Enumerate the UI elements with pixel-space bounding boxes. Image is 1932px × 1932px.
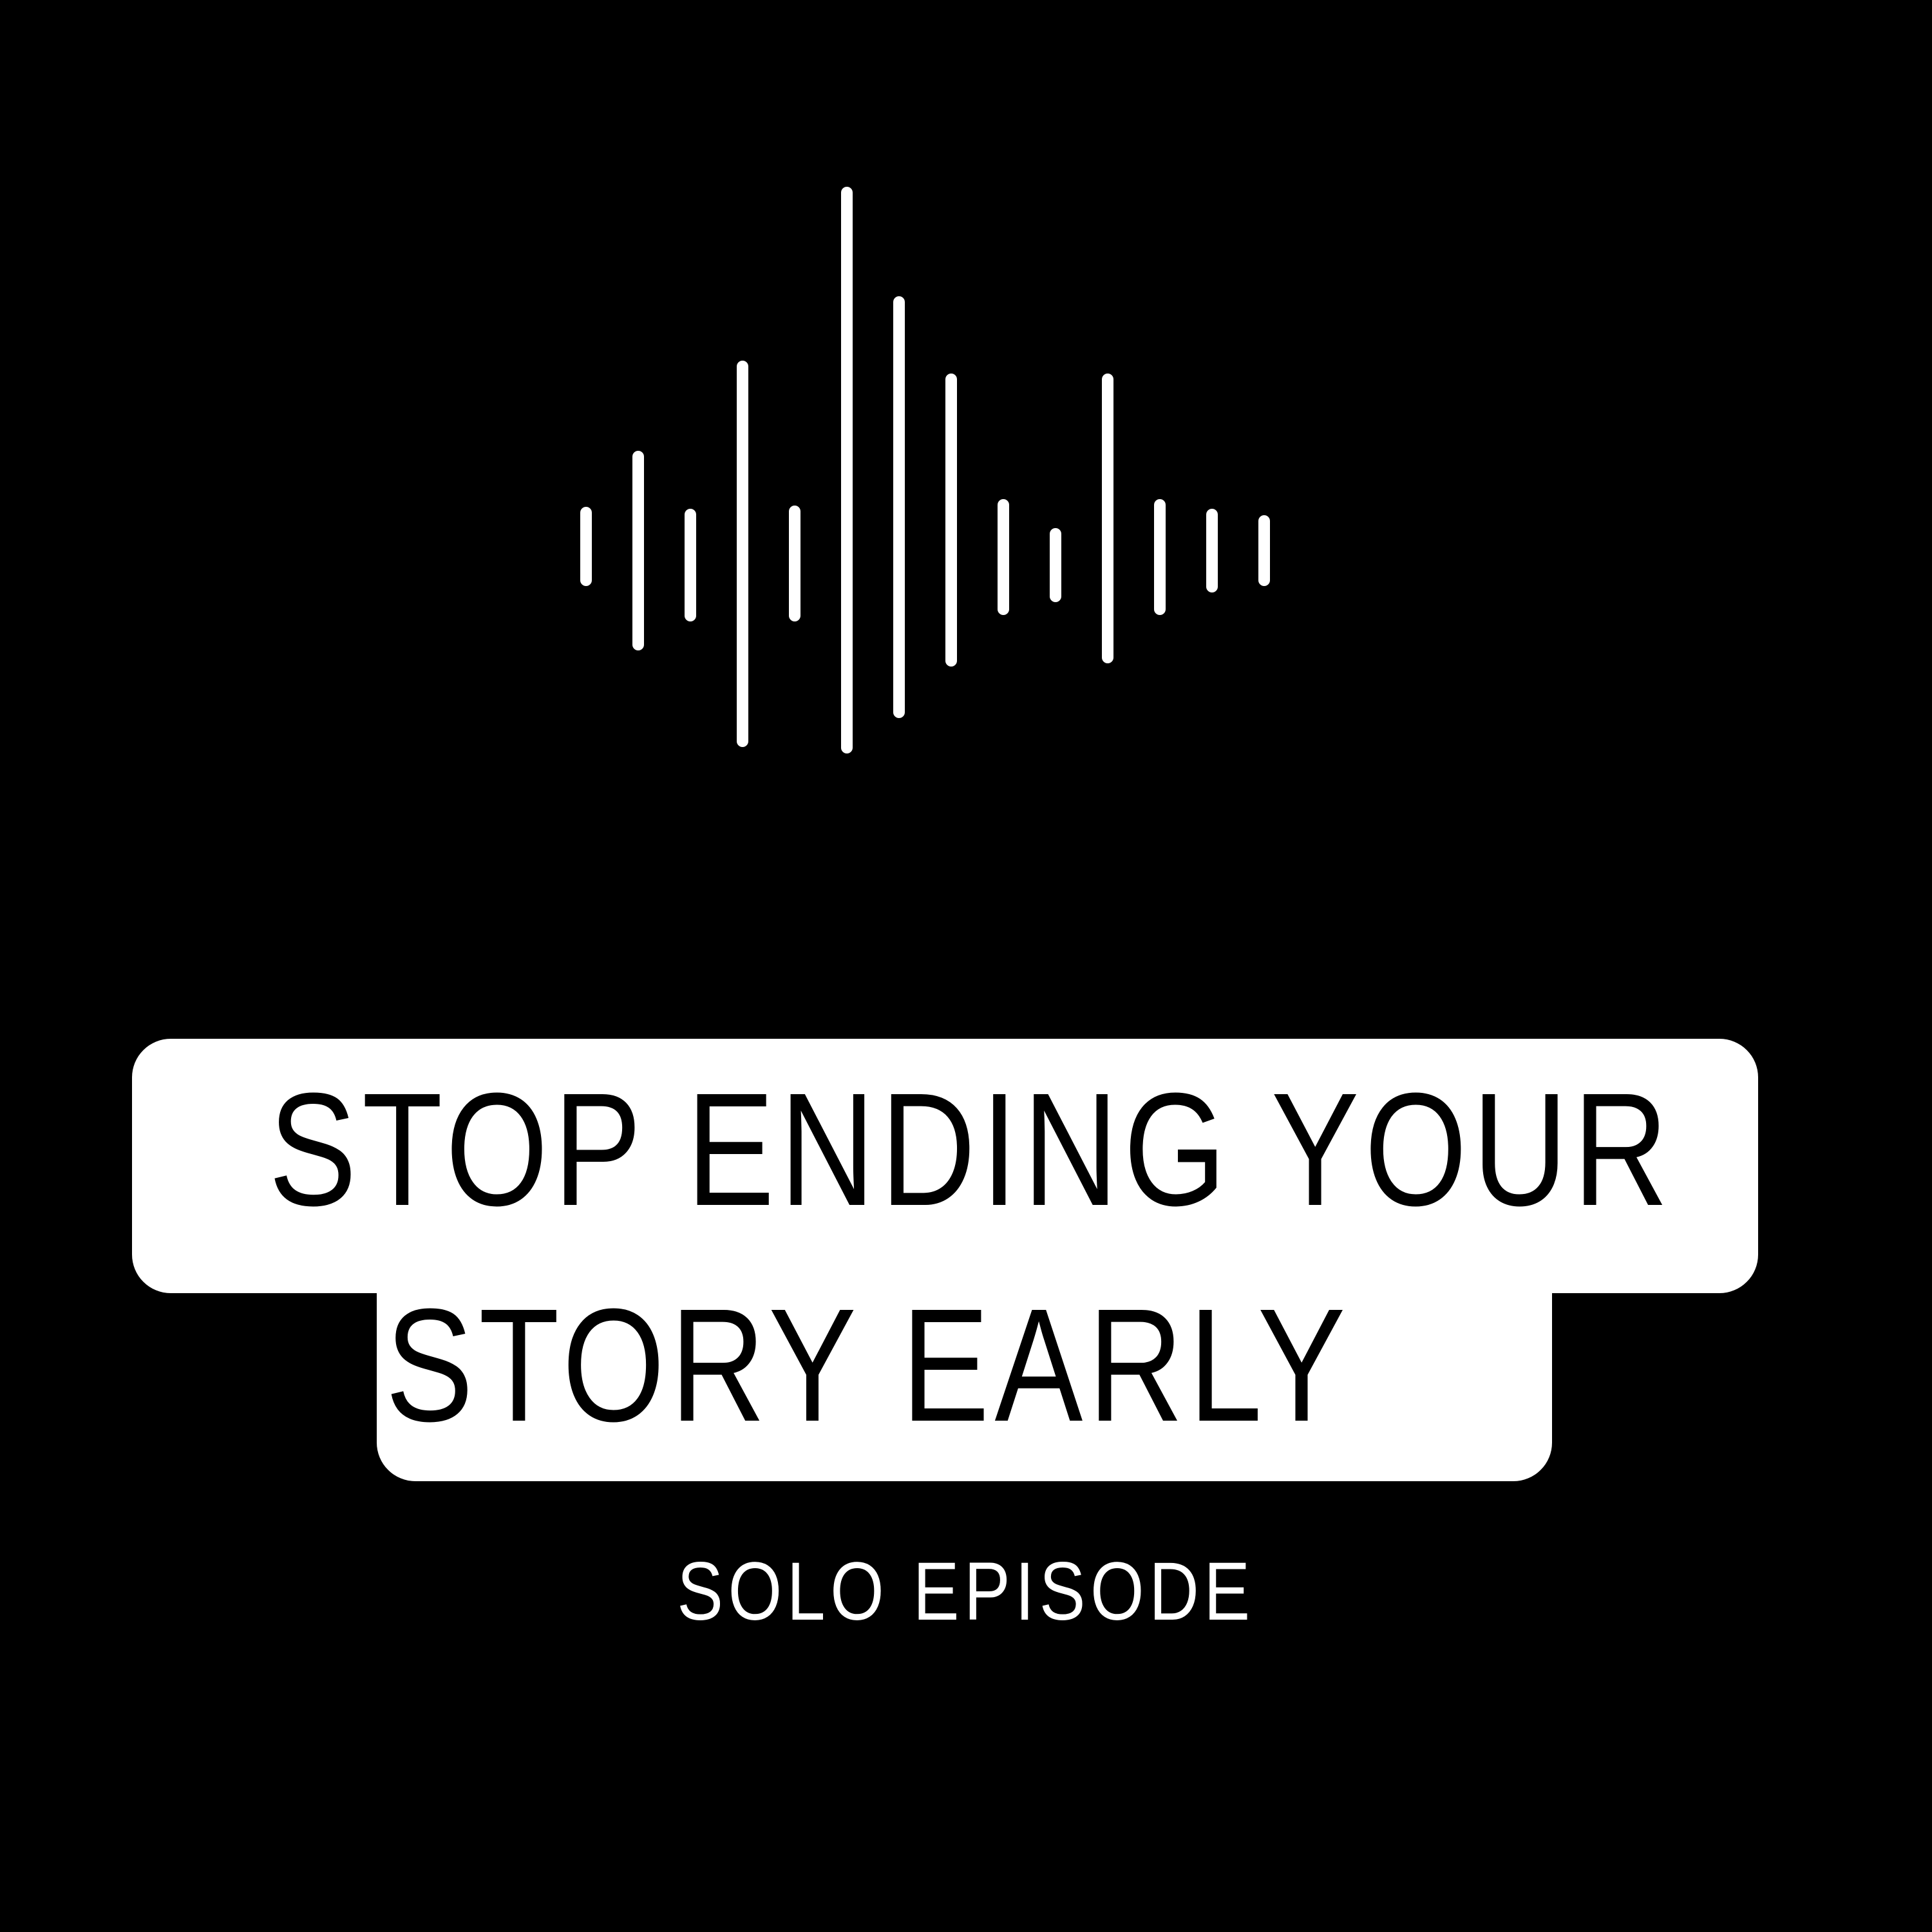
waveform-bar [1154,499,1166,615]
episode-subtitle: SOLO EPISODE [155,1551,1777,1633]
episode-title-line-2: STORY EARLY [76,1285,1660,1446]
waveform-bar [737,361,748,747]
waveform-bar [789,506,800,621]
waveform-bar [1206,509,1218,592]
waveform-bar [841,187,853,753]
waveform-bar [580,507,592,586]
title-banner: STOP ENDING YOUR STORY EARLY [0,1030,1932,1520]
waveform-bar [945,374,957,667]
episode-title-line-1: STOP ENDING YOUR [179,1069,1763,1230]
waveform-bar [1258,515,1270,586]
waveform-bar [1102,374,1113,663]
audio-waveform-graphic [0,0,1932,966]
waveform-bar [893,296,905,718]
waveform-bar [1050,528,1061,602]
waveform-bar [998,499,1009,615]
podcast-cover-artwork: STOP ENDING YOUR STORY EARLY SOLO EPISOD… [0,0,1932,1932]
waveform-bar [632,451,644,650]
waveform-bar [685,509,696,621]
